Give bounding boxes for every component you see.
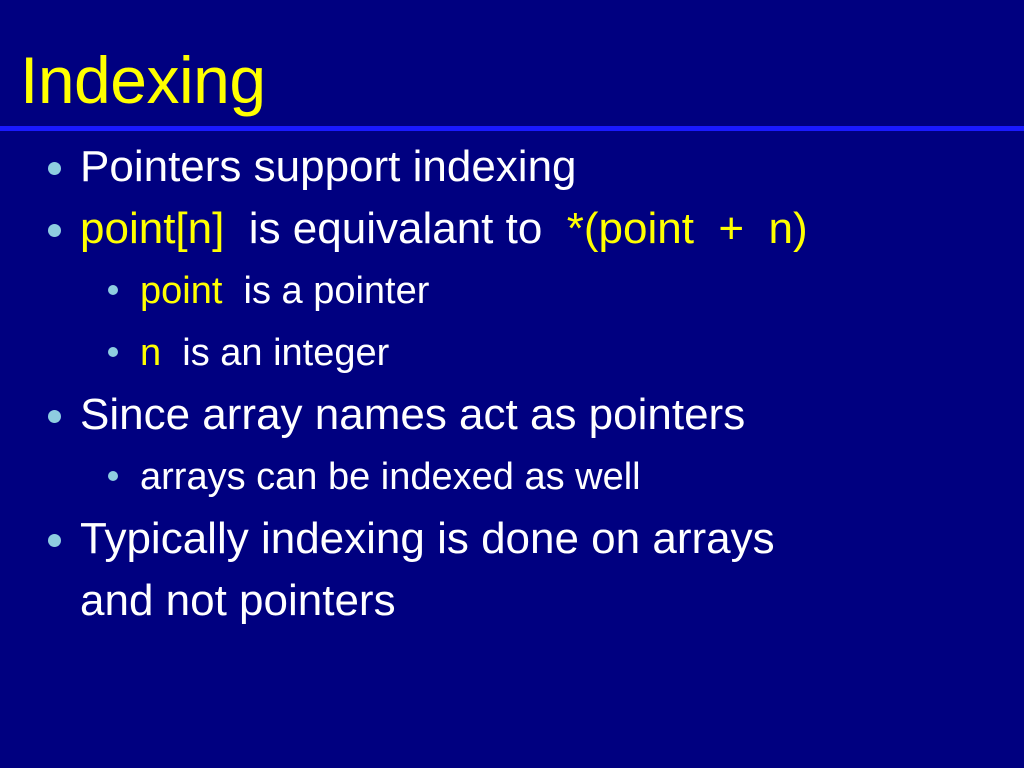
bullet-dot-icon	[48, 534, 61, 547]
bullet-item-level-1: Typically indexing is done on arrays	[0, 508, 1024, 570]
bullet-text: Since array names act as pointers	[80, 384, 1024, 446]
bullet-item-level-1: point[n] is equivalant to *(point + n)	[0, 198, 1024, 260]
text-run: Since array names act as pointers	[80, 390, 745, 439]
bullet-item-level-1: Pointers support indexing	[0, 136, 1024, 198]
text-run: is an integer	[161, 332, 389, 374]
bullet-text: point is a pointer	[140, 260, 1024, 322]
bullet-dot-icon	[108, 347, 118, 357]
text-run: and not pointers	[80, 576, 396, 625]
bullet-text: arrays can be indexed as well	[140, 446, 1024, 508]
bullet-text: n is an integer	[140, 322, 1024, 384]
code-token: point[n]	[80, 204, 224, 253]
bullet-dot-icon	[48, 162, 61, 175]
bullet-item-level-2: n is an integer	[0, 322, 1024, 384]
bullet-dot-icon	[48, 224, 61, 237]
code-token: n	[140, 332, 161, 374]
text-run: is equivalant to	[224, 204, 566, 253]
code-token: point	[140, 270, 222, 312]
slide-title-area: Indexing	[0, 0, 1024, 129]
bullet-dot-icon	[108, 471, 118, 481]
text-run: Pointers support indexing	[80, 142, 577, 191]
text-run: is a pointer	[222, 270, 429, 312]
bullet-text: and not pointers	[80, 570, 1024, 632]
page-title: Indexing	[20, 44, 266, 116]
bullet-text: point[n] is equivalant to *(point + n)	[80, 198, 1024, 260]
bullet-item-level-2: arrays can be indexed as well	[0, 446, 1024, 508]
bullet-text: Pointers support indexing	[80, 136, 1024, 198]
slide-body: Pointers support indexingpoint[n] is equ…	[0, 136, 1024, 632]
bullet-dot-icon	[48, 410, 61, 423]
presentation-slide: Indexing Pointers support indexingpoint[…	[0, 0, 1024, 768]
bullet-continuation-line: and not pointers	[0, 570, 1024, 632]
text-run: arrays can be indexed as well	[140, 456, 641, 498]
code-token: *(point + n)	[567, 204, 808, 253]
title-divider	[0, 126, 1024, 131]
text-run: Typically indexing is done on arrays	[80, 514, 775, 563]
bullet-item-level-1: Since array names act as pointers	[0, 384, 1024, 446]
bullet-item-level-2: point is a pointer	[0, 260, 1024, 322]
bullet-dot-icon	[108, 285, 118, 295]
bullet-text: Typically indexing is done on arrays	[80, 508, 1024, 570]
